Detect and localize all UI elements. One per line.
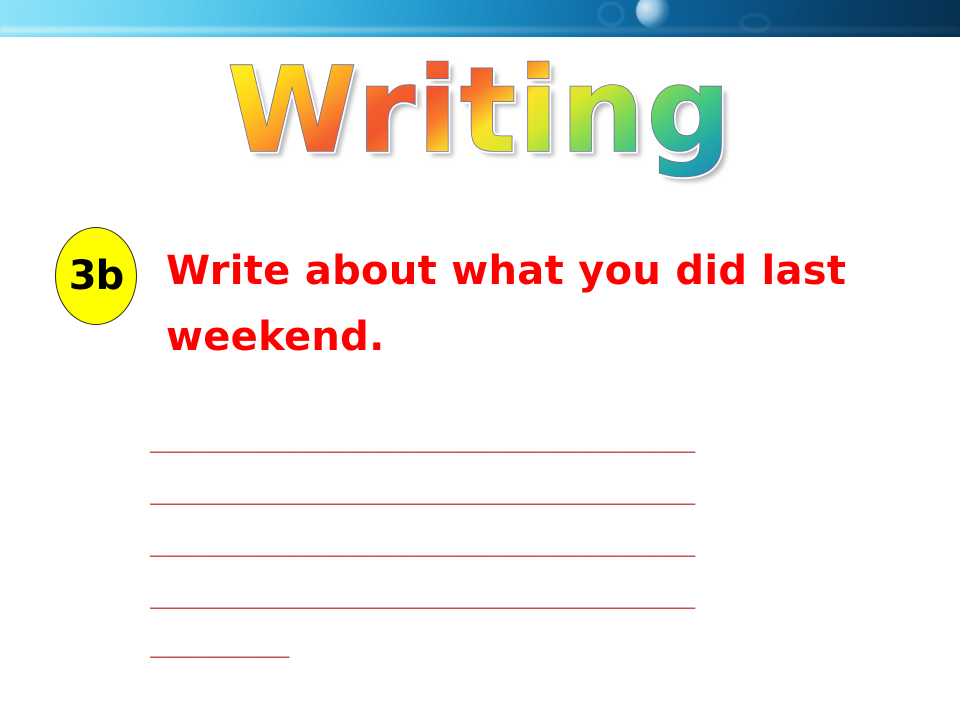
answer-line[interactable]: ________________________________________… bbox=[150, 571, 910, 623]
moon-halo-icon bbox=[598, 2, 624, 26]
wordart-title: Writing Writing Writing Writing bbox=[227, 44, 733, 176]
instruction-line-1: Write about what you did last bbox=[166, 238, 906, 304]
instruction-text: Write about what you did last weekend. bbox=[166, 238, 906, 370]
exercise-number-badge: 3b bbox=[55, 227, 137, 325]
answer-line[interactable]: ________________________________________… bbox=[150, 415, 910, 467]
wordart-outline-layer: Writing bbox=[227, 44, 733, 176]
answer-line[interactable]: ______________ bbox=[150, 623, 910, 669]
answer-line[interactable]: ________________________________________… bbox=[150, 519, 910, 571]
page-title: Writing Writing Writing Writing bbox=[0, 44, 960, 176]
answer-lines: ________________________________________… bbox=[150, 415, 910, 669]
exercise-number-label: 3b bbox=[69, 256, 123, 296]
banner-shine-stripe bbox=[0, 27, 960, 33]
slide: Writing Writing Writing Writing 3b Write… bbox=[0, 0, 960, 720]
top-banner bbox=[0, 0, 960, 37]
instruction-line-2: weekend. bbox=[166, 304, 906, 370]
answer-line[interactable]: ________________________________________… bbox=[150, 467, 910, 519]
moon-glow-icon bbox=[636, 0, 670, 28]
wordart-fill-layer: Writing bbox=[227, 41, 733, 179]
wordart-shadow-layer: Writing bbox=[232, 49, 738, 181]
wordart-stroke-layer: Writing bbox=[227, 44, 733, 176]
